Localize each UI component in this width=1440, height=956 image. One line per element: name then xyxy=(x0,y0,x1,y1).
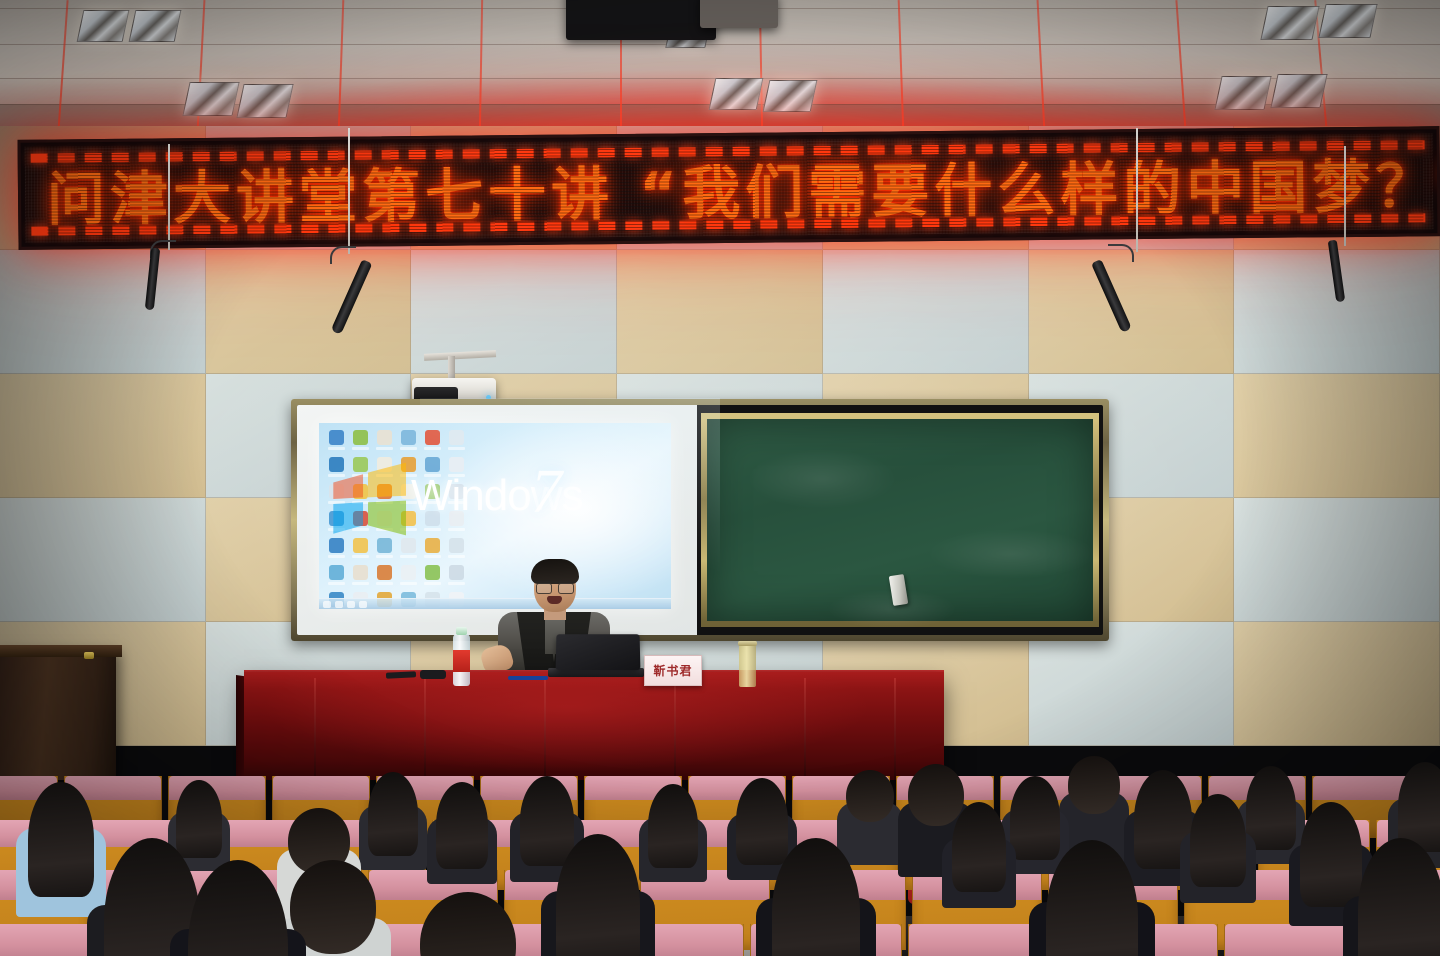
seat-cushion xyxy=(1313,776,1409,800)
ceiling-speaker xyxy=(700,0,778,28)
led-banner-text: 问津大讲堂第七十讲 “我们需要什么样的中国梦？” xyxy=(47,139,1424,236)
green-chalkboard xyxy=(701,413,1099,627)
eyeglasses-icon xyxy=(536,581,574,590)
audience-seating xyxy=(0,742,1440,956)
short-hair-head xyxy=(846,770,894,822)
long-hair-head xyxy=(520,776,574,866)
long-hair-head xyxy=(436,782,488,869)
led-banner: 问津大讲堂第七十讲 “我们需要什么样的中国梦？” xyxy=(18,126,1440,250)
taskbar[interactable] xyxy=(319,598,671,609)
led-panel: 问津大讲堂第七十讲 “我们需要什么样的中国梦？” xyxy=(25,133,1434,243)
lectern-top xyxy=(0,645,122,657)
desktop-icon[interactable] xyxy=(349,537,371,562)
desktop-icon[interactable] xyxy=(397,537,419,562)
desktop-icon[interactable] xyxy=(373,429,395,454)
name-placard-text: 靳书君 xyxy=(653,662,692,679)
tea-cup[interactable] xyxy=(739,645,756,687)
wall-tile xyxy=(206,250,412,374)
desktop-icon[interactable] xyxy=(397,429,419,454)
ceiling-light xyxy=(129,10,182,42)
microphone-wire xyxy=(1344,146,1346,246)
ceiling-light xyxy=(1214,76,1271,110)
board-assembly: Windows 7 xyxy=(291,399,1109,641)
wall-tile xyxy=(0,374,206,498)
desktop-icon[interactable] xyxy=(421,564,443,589)
microphone-wire xyxy=(168,144,170,250)
ceiling-light xyxy=(763,80,818,112)
desktop-icon[interactable] xyxy=(373,537,395,562)
desktop-icon[interactable] xyxy=(445,537,467,562)
ceiling-seam xyxy=(0,44,1440,45)
ceiling-equipment-box xyxy=(566,0,716,40)
desktop-icon[interactable] xyxy=(397,564,419,589)
projection-screen: Windows 7 xyxy=(297,405,697,635)
long-hair-head xyxy=(176,780,222,858)
desk-item[interactable] xyxy=(420,670,446,679)
chalk-smudge xyxy=(747,449,897,509)
ceiling-light xyxy=(1318,4,1377,38)
taskbar-item[interactable] xyxy=(359,601,367,608)
desktop-icon[interactable] xyxy=(445,429,467,454)
ceiling-light xyxy=(77,10,130,42)
windows-logo-icon xyxy=(325,461,411,537)
bottle-label xyxy=(453,650,470,672)
desktop-icon[interactable] xyxy=(373,564,395,589)
cup-lid xyxy=(738,641,757,646)
start-button[interactable] xyxy=(323,601,331,608)
projected-desktop: Windows 7 xyxy=(319,423,671,609)
desktop-icon[interactable] xyxy=(421,537,443,562)
windows-version-label: 7 xyxy=(531,457,562,528)
long-hair-head xyxy=(28,782,94,897)
microphone-hook xyxy=(330,246,356,264)
long-hair-head xyxy=(1190,794,1246,887)
microphone-wire xyxy=(1136,128,1138,252)
desktop-icon[interactable] xyxy=(325,564,347,589)
ceiling-light xyxy=(1260,6,1319,40)
short-hair-head xyxy=(1068,756,1120,814)
microphone-wire xyxy=(348,128,350,254)
desktop-icon[interactable] xyxy=(349,429,371,454)
wall-tile xyxy=(1234,374,1440,498)
long-hair-head xyxy=(1246,766,1296,850)
name-placard: 靳书君 xyxy=(644,655,702,686)
long-hair-head xyxy=(648,784,698,868)
short-hair-head xyxy=(908,764,964,826)
desk-pen[interactable] xyxy=(508,676,548,680)
microphone-hook xyxy=(1108,244,1134,262)
lectern-emblem xyxy=(84,652,94,659)
lecture-hall-scene: 问津大讲堂第七十讲 “我们需要什么样的中国梦？” xyxy=(0,0,1440,956)
wall-tile xyxy=(1234,498,1440,622)
taskbar-item[interactable] xyxy=(347,601,355,608)
wall-tile xyxy=(823,250,1029,374)
presenter-mouth xyxy=(547,596,562,604)
desktop-icon[interactable] xyxy=(421,429,443,454)
wall-tile xyxy=(1029,250,1235,374)
desktop-icon[interactable] xyxy=(445,564,467,589)
bottle-cap xyxy=(456,627,467,635)
long-hair-head xyxy=(1010,776,1060,860)
long-hair-head xyxy=(368,772,418,856)
wall-tile xyxy=(1234,622,1440,746)
laptop-screen[interactable] xyxy=(556,634,641,670)
long-hair-head xyxy=(1300,802,1362,907)
chalk-smudge xyxy=(927,529,1097,579)
desktop-icon[interactable] xyxy=(325,537,347,562)
ceiling-light xyxy=(709,78,764,110)
wall-tile xyxy=(617,250,823,374)
seat-cushion xyxy=(273,776,369,800)
desktop-icon[interactable] xyxy=(349,564,371,589)
wall-tile xyxy=(0,250,206,374)
wall-tile xyxy=(0,498,206,622)
ceiling-light xyxy=(182,82,239,116)
long-hair-head xyxy=(952,802,1006,892)
taskbar-item[interactable] xyxy=(335,601,343,608)
long-hair-head xyxy=(736,778,788,865)
desktop-icon[interactable] xyxy=(325,429,347,454)
ceiling-light xyxy=(1270,74,1327,108)
board-inner: Windows 7 xyxy=(297,405,1103,635)
ceiling-light xyxy=(236,84,293,118)
water-bottle[interactable] xyxy=(453,634,470,686)
